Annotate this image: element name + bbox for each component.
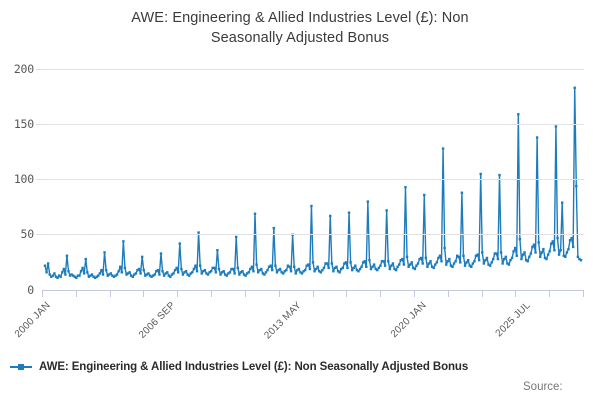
legend-line-icon — [10, 362, 32, 372]
y-tick-label-100: 100 — [0, 172, 34, 186]
y-tick-label-0: 0 — [0, 283, 34, 297]
gridline-200 — [42, 69, 584, 70]
legend-item-label: AWE: Engineering & Allied Industries Lev… — [39, 361, 468, 373]
chart-container: AWE: Engineering & Allied Industries Lev… — [0, 0, 600, 400]
chart-title-line-2: Seasonally Adjusted Bonus — [211, 30, 389, 46]
gridline-150 — [42, 124, 584, 125]
x-tick-label-3: 2020 JAN — [389, 300, 429, 340]
x-tick-label-4: 2025 JUL — [493, 300, 532, 339]
gridline-50 — [42, 234, 584, 235]
legend[interactable]: AWE: Engineering & Allied Industries Lev… — [10, 361, 468, 373]
page-title: AWE: Engineering & Allied Industries Lev… — [40, 8, 560, 48]
x-tick-label-1: 2006 SEP — [137, 300, 178, 341]
x-tick-label-2: 2013 MAY — [262, 300, 303, 341]
y-tick-label-150: 150 — [0, 117, 34, 131]
source-label: Source: — [523, 381, 563, 393]
gridline-100 — [42, 179, 584, 180]
plot-area — [42, 69, 584, 290]
y-tick-label-200: 200 — [0, 62, 34, 76]
y-tick-label-50: 50 — [0, 227, 34, 241]
x-tick-label-0: 2000 JAN — [13, 300, 53, 340]
chart-title-line-1: AWE: Engineering & Allied Industries Lev… — [131, 10, 468, 26]
